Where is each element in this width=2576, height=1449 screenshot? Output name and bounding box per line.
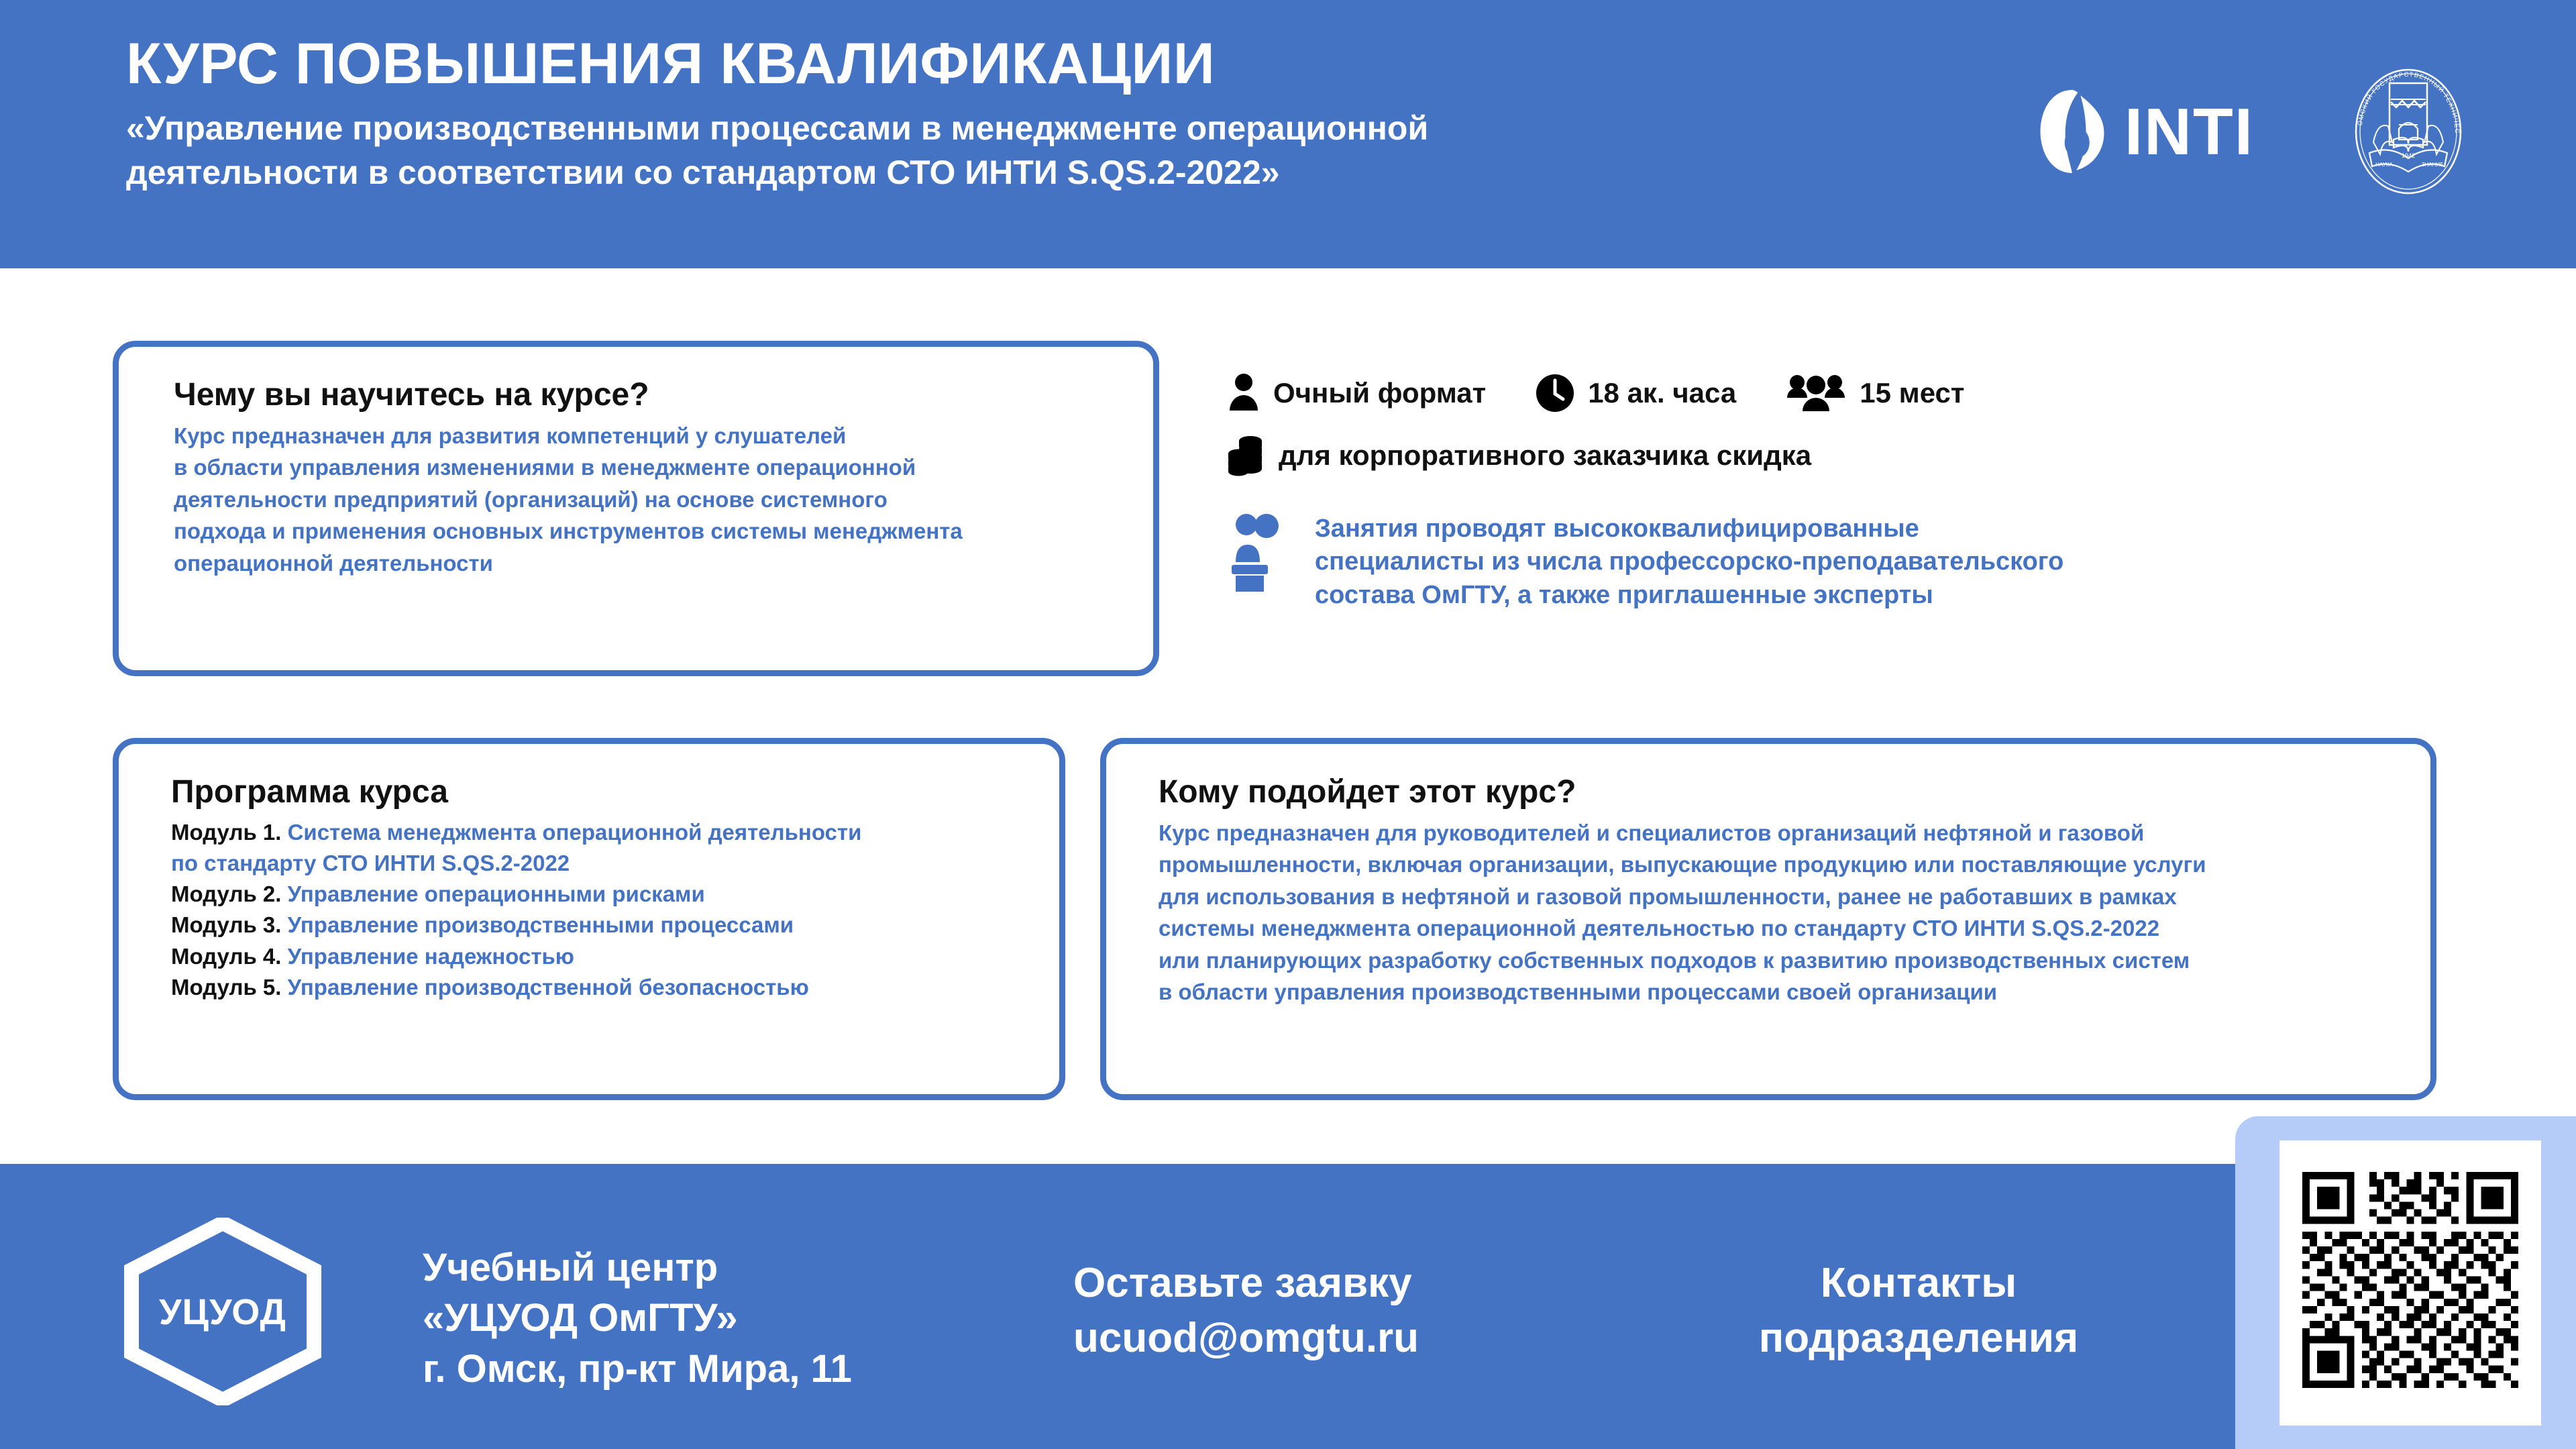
learn-line-5: операционной деятельности bbox=[174, 547, 1153, 580]
clock-icon bbox=[1536, 374, 1574, 413]
learn-line-2: в области управления изменениями в менед… bbox=[174, 451, 1153, 484]
audience-line-5: или планирующих разработку собственных п… bbox=[1159, 945, 2430, 977]
fact-format-label: Очный формат bbox=[1273, 377, 1486, 409]
card-target-audience: Кому подойдет этот курс? Курс предназнач… bbox=[1100, 738, 2436, 1100]
module-text: Управление надежностью bbox=[288, 944, 574, 969]
subtitle-line-1: «Управление производственными процессами… bbox=[126, 106, 1843, 150]
fact-discount-label: для корпоративного заказчика скидка bbox=[1279, 439, 1811, 472]
svg-text:ЗНАНИЕ: ЗНАНИЕ bbox=[2422, 162, 2444, 168]
inti-wordmark: INTI bbox=[2125, 99, 2254, 164]
page-title: КУРС ПОВЫШЕНИЯ КВАЛИФИКАЦИИ bbox=[126, 35, 1843, 94]
learn-line-1: Курс предназначен для развития компетенц… bbox=[174, 420, 1153, 452]
header-text-block: КУРС ПОВЫШЕНИЯ КВАЛИФИКАЦИИ «Управление … bbox=[126, 35, 1843, 195]
footer-center-line-1: Учебный центр bbox=[423, 1242, 852, 1293]
lecturers-line-3: состава ОмГТУ, а также приглашенные эксп… bbox=[1315, 579, 2063, 612]
svg-text:1942: 1942 bbox=[2402, 152, 2415, 159]
fact-hours-label: 18 ак. часа bbox=[1588, 377, 1736, 409]
module-label: Модуль 3. bbox=[171, 912, 281, 937]
fact-format: Очный формат bbox=[1228, 373, 1486, 413]
footer-apply-block[interactable]: Оставьте заявку ucuod@omgtu.ru bbox=[1073, 1256, 1419, 1366]
footer-center-line-2: «УЦУОД ОмГТУ» bbox=[423, 1293, 852, 1343]
module-text: Система менеджмента операционной деятель… bbox=[288, 820, 862, 845]
fact-seats: 15 мест bbox=[1786, 374, 1964, 413]
audience-card-body: Курс предназначен для руководителей и сп… bbox=[1159, 817, 2430, 1008]
module-label: Модуль 4. bbox=[171, 944, 281, 969]
learn-card-title: Чему вы научитесь на курсе? bbox=[174, 378, 1153, 413]
card-what-you-learn: Чему вы научитесь на курсе? Курс предназ… bbox=[113, 341, 1159, 676]
coins-stack-icon bbox=[1228, 435, 1265, 476]
lecturers-block: Занятия проводят высококвалифицированные… bbox=[1228, 513, 2502, 612]
apply-heading: Оставьте заявку bbox=[1073, 1256, 1419, 1311]
module-item: Модуль 5. Управление производственной бе… bbox=[171, 972, 1059, 1003]
module-item: Модуль 1. Система менеджмента операционн… bbox=[171, 817, 1059, 848]
footer-contacts-block[interactable]: Контакты подразделения bbox=[1597, 1256, 2241, 1366]
footer-center-address: Учебный центр «УЦУОД ОмГТУ» г. Омск, пр-… bbox=[423, 1242, 852, 1394]
module-item: Модуль 2. Управление операционными риска… bbox=[171, 879, 1059, 910]
learn-line-3: деятельности предприятий (организаций) н… bbox=[174, 484, 1153, 516]
module-label: Модуль 1. bbox=[171, 820, 281, 845]
audience-line-2: промышленности, включая организации, вып… bbox=[1159, 849, 2430, 881]
learn-line-4: подхода и применения основных инструмент… bbox=[174, 515, 1153, 547]
qr-code-icon[interactable] bbox=[2302, 1159, 2518, 1401]
module-text: Управление операционными рисками bbox=[288, 881, 705, 906]
audience-card-title: Кому подойдет этот курс? bbox=[1159, 775, 2430, 810]
header-banner: КУРС ПОВЫШЕНИЯ КВАЛИФИКАЦИИ «Управление … bbox=[0, 0, 2576, 268]
subtitle-line-2: деятельности в соответствии со стандарто… bbox=[126, 150, 1843, 195]
module-label: Модуль 5. bbox=[171, 975, 281, 1000]
people-group-icon bbox=[1786, 374, 1846, 413]
inti-logo: INTI bbox=[2037, 89, 2254, 174]
module-item: Модуль 4. Управление надежностью bbox=[171, 941, 1059, 972]
fact-seats-label: 15 мест bbox=[1860, 377, 1964, 409]
inti-drop-icon bbox=[2037, 89, 2107, 174]
course-facts-panel: Очный формат 18 ак. часа 15 мест bbox=[1228, 373, 2502, 612]
program-card-title: Программа курса bbox=[171, 775, 1059, 810]
speaker-podium-icon bbox=[1228, 513, 1292, 592]
facts-row-discount: для корпоративного заказчика скидка bbox=[1228, 435, 2502, 476]
lecturers-line-1: Занятия проводят высококвалифицированные bbox=[1315, 513, 2063, 545]
audience-line-6: в области управления производственными п… bbox=[1159, 976, 2430, 1008]
lecturers-line-2: специалисты из числа профессорско-препод… bbox=[1315, 545, 2063, 578]
module-text: Управление производственной безопасность… bbox=[288, 975, 809, 1000]
omgtu-seal-icon: 1942 НАУКА ЗНАНИЕ ОМСКИЙ ГОСУДАРСТВЕННЫЙ… bbox=[2341, 64, 2475, 199]
contacts-line-2: подразделения bbox=[1597, 1311, 2241, 1366]
svg-text:НАУКА: НАУКА bbox=[2375, 162, 2394, 168]
ucuod-logo-text: УЦУОД bbox=[122, 1291, 323, 1333]
apply-email-link[interactable]: ucuod@omgtu.ru bbox=[1073, 1311, 1419, 1366]
page-subtitle: «Управление производственными процессами… bbox=[126, 106, 1843, 195]
fact-discount: для корпоративного заказчика скидка bbox=[1228, 435, 1811, 476]
footer-center-line-3: г. Омск, пр-кт Мира, 11 bbox=[423, 1344, 852, 1394]
contacts-line-1: Контакты bbox=[1597, 1256, 2241, 1311]
audience-line-1: Курс предназначен для руководителей и сп… bbox=[1159, 817, 2430, 849]
learn-card-body: Курс предназначен для развития компетенц… bbox=[174, 420, 1153, 580]
audience-line-4: системы менеджмента операционной деятель… bbox=[1159, 912, 2430, 945]
audience-line-3: для использования в нефтяной и газовой п… bbox=[1159, 881, 2430, 913]
header-logos: INTI 1942 НАУКА ЗНАНИЕ ОМСКИЙ ГОСУДАРСТВ… bbox=[2037, 64, 2475, 199]
lecturers-text: Занятия проводят высококвалифицированные… bbox=[1315, 513, 2063, 612]
fact-hours: 18 ак. часа bbox=[1536, 374, 1736, 413]
card-course-program: Программа курса Модуль 1. Система менедж… bbox=[113, 738, 1065, 1100]
module-continuation: по стандарту СТО ИНТИ S.QS.2-2022 bbox=[171, 848, 1059, 879]
module-label: Модуль 2. bbox=[171, 881, 281, 906]
module-item: Модуль 3. Управление производственными п… bbox=[171, 910, 1059, 941]
facts-row-primary: Очный формат 18 ак. часа 15 мест bbox=[1228, 373, 2502, 413]
person-icon bbox=[1228, 373, 1260, 413]
program-modules-list: Модуль 1. Система менеджмента операционн… bbox=[171, 817, 1059, 1003]
module-text: Управление производственными процессами bbox=[288, 912, 794, 937]
